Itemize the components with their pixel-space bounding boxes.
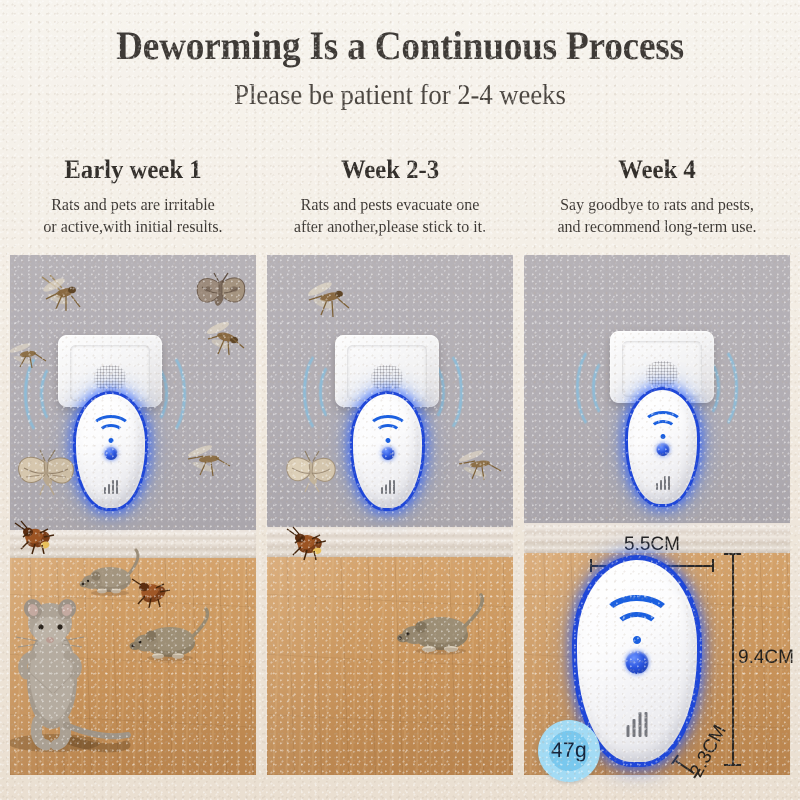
column-heading-3: Week 4 [531, 155, 784, 185]
column-line1-2: Rats and pests evacuate one [271, 194, 510, 216]
baseboard-trim-1 [10, 530, 256, 558]
wood-floor-2 [267, 557, 513, 775]
page-title: Deworming Is a Continuous Process [28, 22, 772, 69]
baseboard-trim-2 [267, 527, 513, 557]
height-dimension-label: 9.4CM [738, 647, 794, 669]
speaker-grille-icon [90, 365, 130, 391]
weight-badge-label: 47g [551, 739, 587, 763]
column-line1-3: Say goodbye to rats and pests, [528, 194, 786, 216]
column-caption-2: Week 2-3 Rats and pests evacuate one aft… [267, 155, 513, 238]
product-dimension-overlay: 5.5CM 9.4CM 2.3CM 47g [524, 255, 790, 800]
power-led-icon [104, 447, 117, 460]
power-led-icon [381, 447, 394, 460]
vent-slots-icon [104, 479, 118, 494]
panel-week-1 [10, 255, 256, 775]
column-heading-1: Early week 1 [16, 155, 250, 185]
infographic-page: Deworming Is a Continuous Process Please… [0, 0, 800, 800]
wifi-dot-icon [108, 438, 113, 443]
height-dimension-line [732, 553, 734, 765]
column-caption-1: Early week 1 Rats and pets are irritable… [10, 155, 256, 238]
width-dimension-label: 5.5CM [624, 534, 680, 556]
vent-slots-icon [381, 479, 395, 494]
pest-repeller-device-1 [73, 391, 148, 511]
vent-slots-icon [627, 710, 648, 737]
wifi-dot-icon [385, 438, 390, 443]
wood-floor-1 [10, 558, 256, 775]
weight-badge: 47g [538, 720, 600, 782]
column-caption-3: Week 4 Say goodbye to rats and pests, an… [524, 155, 790, 238]
column-line2-2: after another,please stick to it. [271, 216, 510, 238]
height-dimension-cap-bottom [724, 764, 741, 766]
speaker-grille-icon [367, 365, 407, 391]
column-line1-1: Rats and pets are irritable [14, 194, 253, 216]
column-line2-1: or active,with initial results. [14, 216, 253, 238]
height-dimension-cap-top [724, 553, 741, 555]
wifi-dot-icon [633, 636, 641, 644]
width-dimension-cap-right [712, 559, 714, 572]
panel-week-2 [267, 255, 513, 775]
column-line2-3: and recommend long-term use. [528, 216, 786, 238]
column-heading-2: Week 2-3 [273, 155, 507, 185]
pest-repeller-device-2 [350, 391, 425, 511]
page-subtitle: Please be patient for 2-4 weeks [20, 80, 780, 112]
power-led-icon [626, 651, 649, 674]
